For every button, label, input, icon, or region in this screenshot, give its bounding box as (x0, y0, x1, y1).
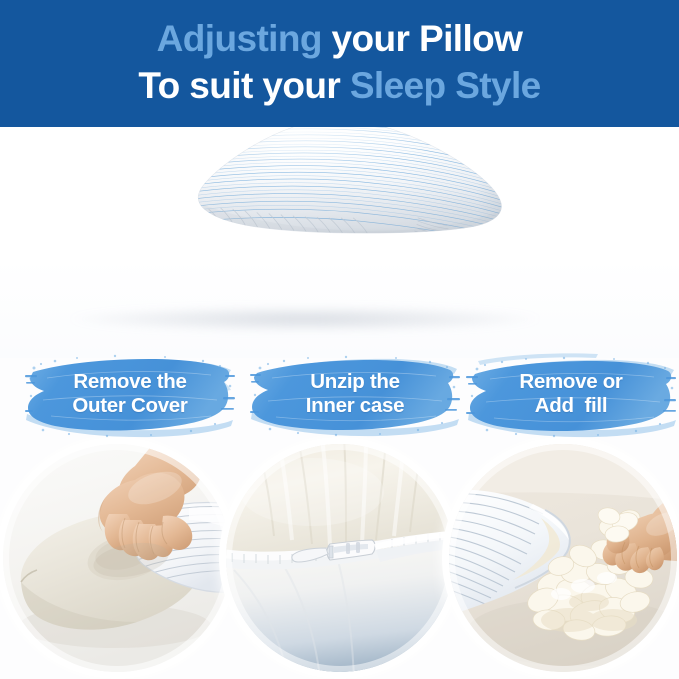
step-1-photo-remove-outer-cover (3, 444, 231, 672)
photo-2-illustration (226, 444, 454, 672)
brush-stroke-shape-3 (466, 348, 676, 440)
hero-pillow-section (0, 108, 679, 358)
brush-stroke-shape-2 (250, 348, 460, 440)
pillow-adjustment-infographic: Adjusting your Pillow To suit your Sleep… (0, 0, 679, 679)
headline-2-accent: Sleep Style (350, 65, 541, 106)
step-2-photo-unzip-inner-case (226, 444, 454, 672)
headline-line-2: To suit your Sleep Style (0, 67, 679, 104)
photo-3-illustration (449, 444, 677, 672)
pillow-drop-shadow (70, 306, 540, 332)
headline-1-accent: Adjusting (157, 18, 332, 59)
photo-1-illustration (3, 444, 231, 672)
headline-2-main: To suit your (138, 65, 349, 106)
step-banner-unzip-inner-case: Unzip the Inner case (250, 348, 460, 440)
brush-stroke-shape-1 (25, 348, 235, 440)
step-banner-remove-or-add-fill: Remove or Add fill (466, 348, 676, 440)
headline-line-1: Adjusting your Pillow (0, 20, 679, 57)
pillow-illustration (170, 116, 510, 247)
step-3-photo-remove-add-fill (449, 444, 677, 672)
headline-1-main: your Pillow (332, 18, 523, 59)
pillow-product-image (170, 116, 510, 247)
header-banner: Adjusting your Pillow To suit your Sleep… (0, 0, 679, 127)
step-banner-remove-outer-cover: Remove the Outer Cover (25, 348, 235, 440)
